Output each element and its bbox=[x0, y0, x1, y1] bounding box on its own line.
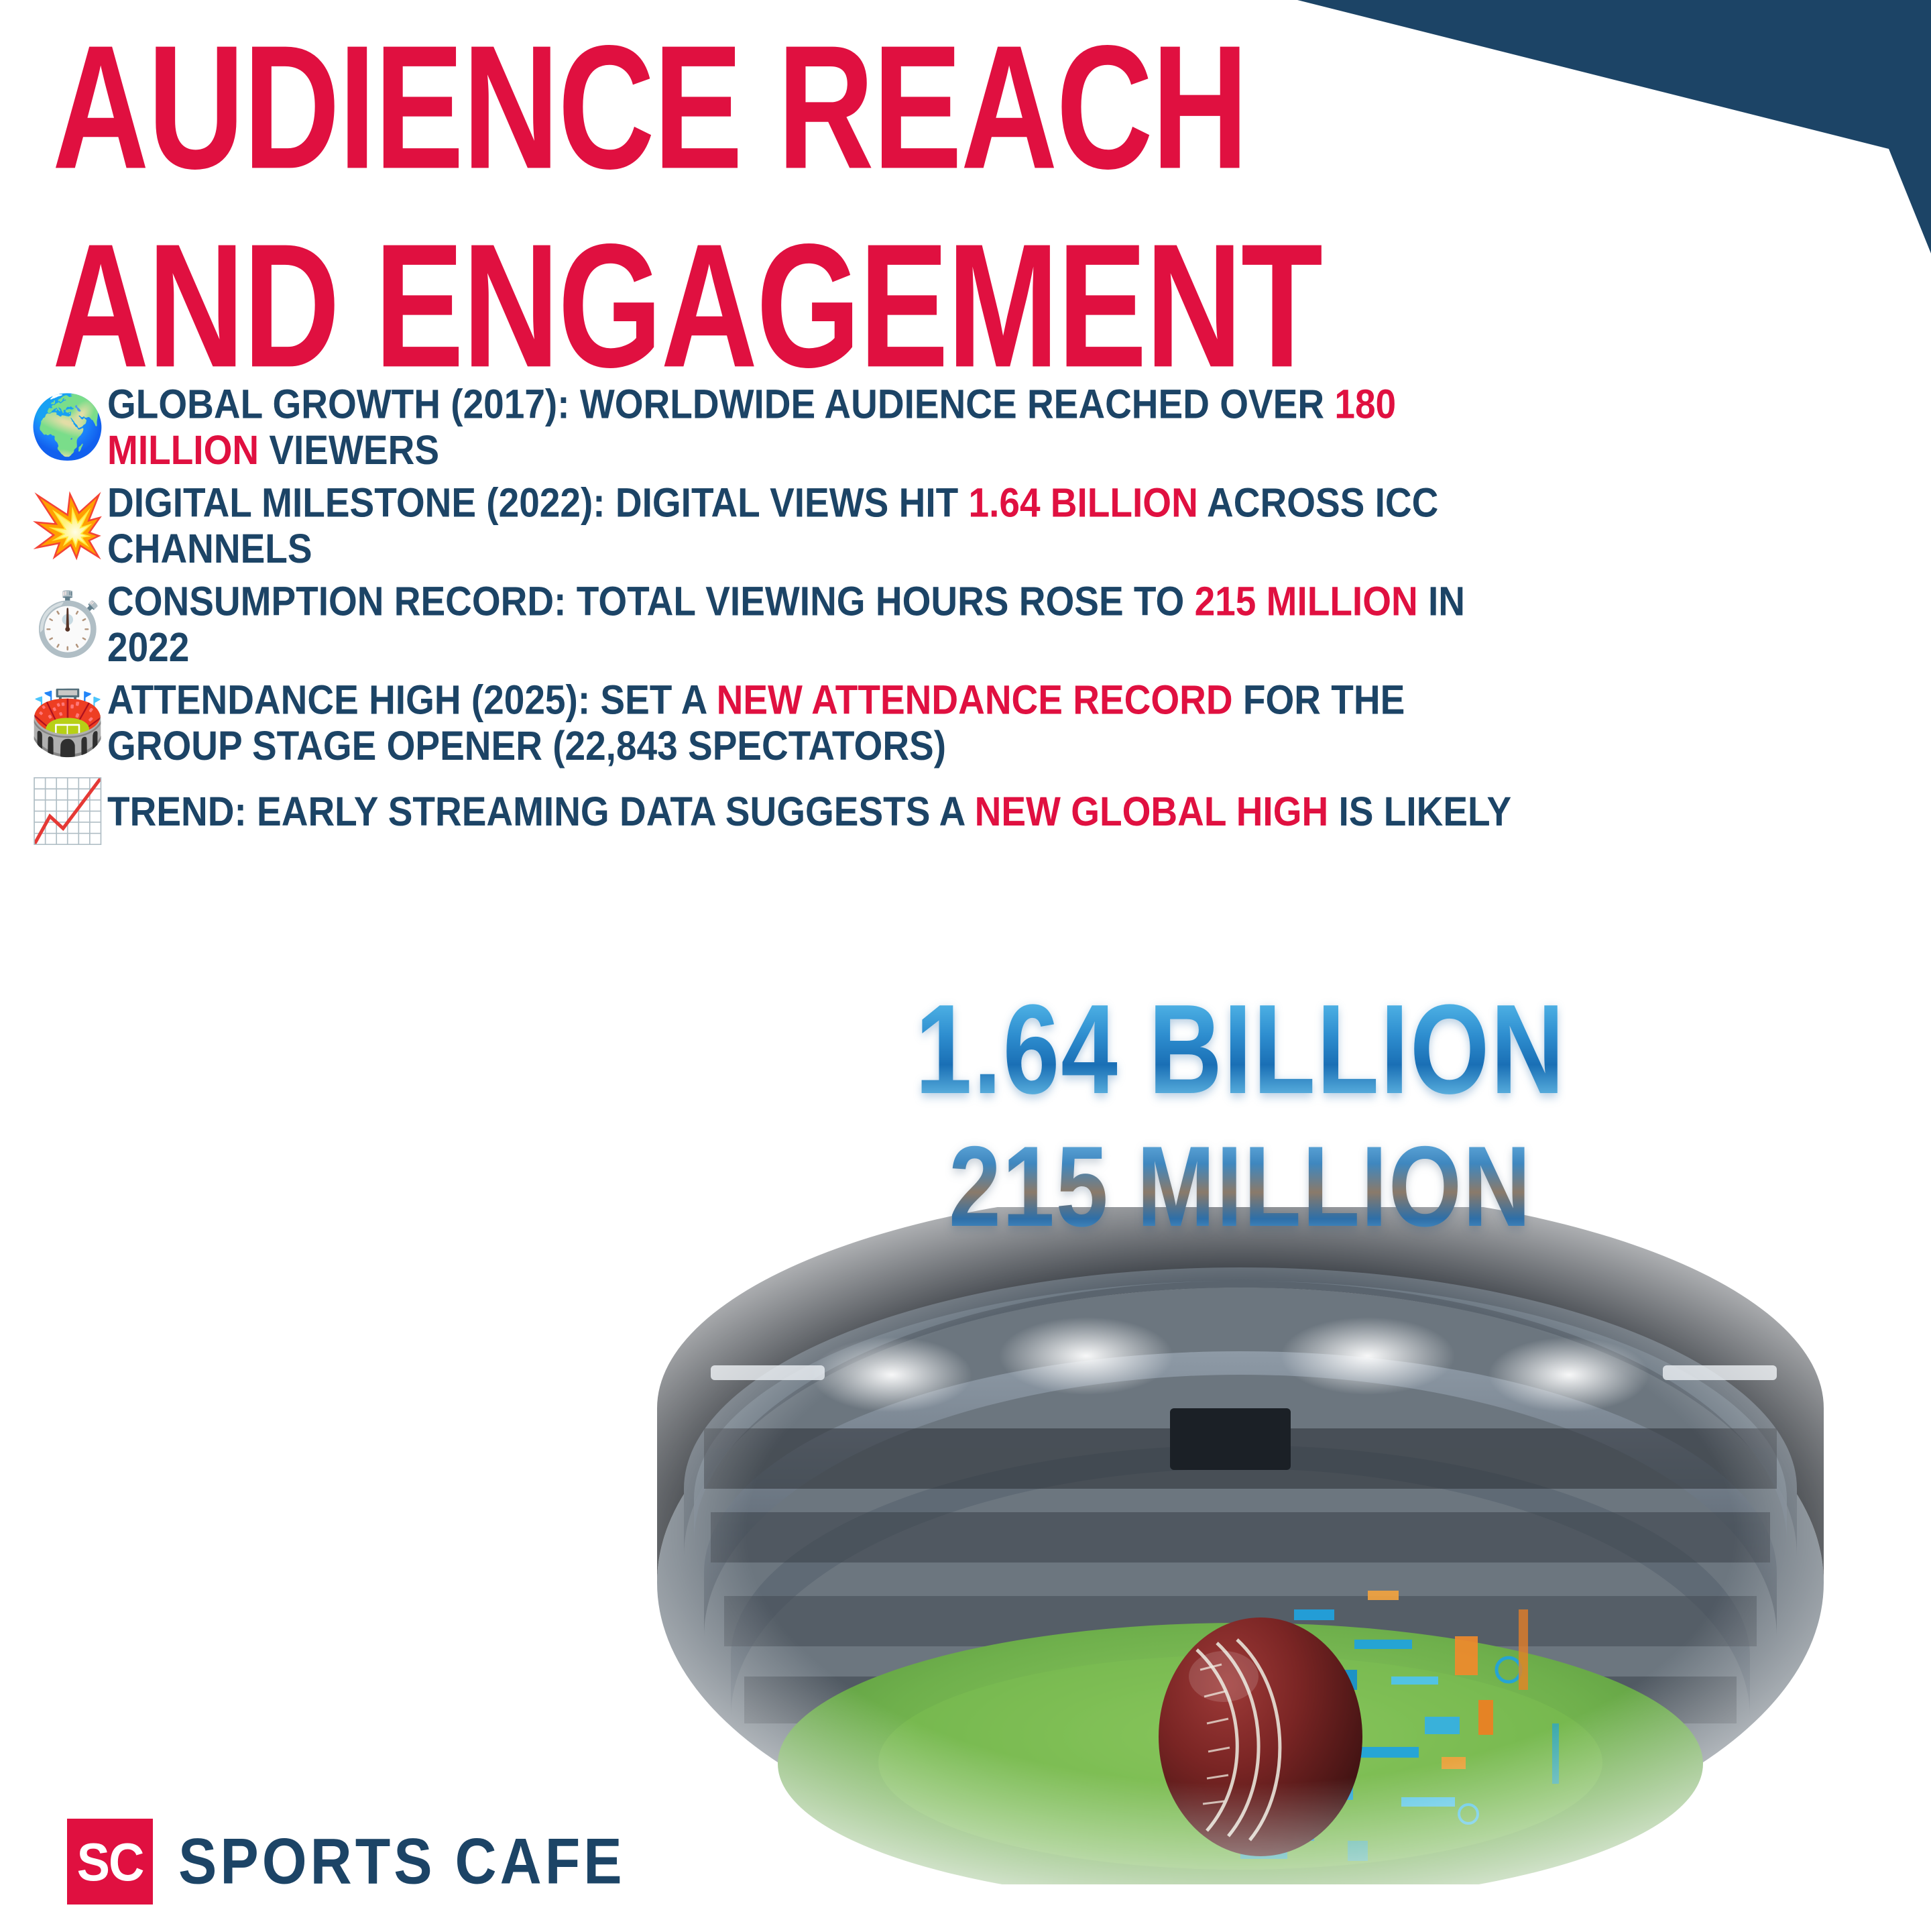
list-item: 📈 TREND: EARLY STREAMING DATA SUGGESTS A… bbox=[28, 781, 1537, 842]
hero-graphic: 1.64 BILLION 215 MILLION bbox=[577, 986, 1904, 1884]
text-run-label: GLOBAL GROWTH (2017): bbox=[107, 381, 570, 427]
text-run-hl: 1.64 BILLION bbox=[968, 479, 1197, 526]
stats-list: 🌍 GLOBAL GROWTH (2017): WORLDWIDE AUDIEN… bbox=[28, 386, 1537, 860]
text-run-label: TREND: bbox=[107, 788, 247, 834]
brand-logo: SC SPORTS CAFE bbox=[67, 1819, 626, 1905]
list-item: 🏟️ ATTENDANCE HIGH (2025): SET A NEW ATT… bbox=[28, 682, 1537, 763]
chart-increasing-icon: 📈 bbox=[28, 781, 107, 842]
text-run-body: SET A bbox=[590, 677, 716, 723]
globe-icon: 🌍 bbox=[28, 396, 107, 458]
page-title-line-1: AUDIENCE REACH bbox=[52, 27, 1488, 189]
text-run-body: WORLDWIDE AUDIENCE REACHED OVER bbox=[570, 381, 1335, 427]
hero-figure-primary: 1.64 BILLION bbox=[577, 986, 1904, 1113]
text-run-hl: NEW ATTENDANCE RECORD bbox=[717, 677, 1233, 723]
text-run-label: CONSUMPTION RECORD: bbox=[107, 578, 566, 624]
list-item-text: CONSUMPTION RECORD: TOTAL VIEWING HOURS … bbox=[107, 579, 1537, 670]
text-run-label: ATTENDANCE HIGH (2025): bbox=[107, 677, 590, 723]
hero-figure-secondary: 215 MILLION bbox=[577, 1129, 1904, 1244]
list-item-text: DIGITAL MILESTONE (2022): DIGITAL VIEWS … bbox=[107, 480, 1537, 571]
text-run-hl: 215 MILLION bbox=[1195, 578, 1418, 624]
list-item-text: TREND: EARLY STREAMING DATA SUGGESTS A N… bbox=[107, 789, 1537, 834]
text-run-body: IS LIKELY bbox=[1328, 788, 1511, 834]
text-run-body: TOTAL VIEWING HOURS ROSE TO bbox=[566, 578, 1194, 624]
stopwatch-icon: ⏱️ bbox=[28, 593, 107, 655]
list-item: 🌍 GLOBAL GROWTH (2017): WORLDWIDE AUDIEN… bbox=[28, 386, 1537, 467]
stadium-icon: 🏟️ bbox=[28, 692, 107, 754]
explosion-icon: 💥 bbox=[28, 495, 107, 557]
list-item: ⏱️ CONSUMPTION RECORD: TOTAL VIEWING HOU… bbox=[28, 583, 1537, 665]
infographic-canvas: AUDIENCE REACH AND ENGAGEMENT 🌍 GLOBAL G… bbox=[0, 0, 1931, 1932]
text-run-label: DIGITAL MILESTONE (2022): bbox=[107, 479, 605, 526]
page-title-line-2: AND ENGAGEMENT bbox=[52, 225, 1488, 388]
text-run-hl: NEW GLOBAL HIGH bbox=[975, 788, 1329, 834]
logo-wordmark: SPORTS CAFE bbox=[178, 1825, 626, 1899]
list-item-text: GLOBAL GROWTH (2017): WORLDWIDE AUDIENCE… bbox=[107, 382, 1537, 473]
hero-figure-group: 1.64 BILLION 215 MILLION bbox=[577, 986, 1904, 1223]
page-title: AUDIENCE REACH AND ENGAGEMENT bbox=[52, 27, 1460, 347]
stadium-illustration bbox=[577, 1207, 1904, 1884]
list-item-text: ATTENDANCE HIGH (2025): SET A NEW ATTEND… bbox=[107, 677, 1537, 769]
text-run-body: VIEWERS bbox=[259, 426, 439, 472]
logo-mark-text: SC bbox=[77, 1831, 143, 1892]
logo-mark: SC bbox=[67, 1819, 153, 1905]
text-run-body: EARLY STREAMING DATA SUGGESTS A bbox=[247, 788, 975, 834]
text-run-body: DIGITAL VIEWS HIT bbox=[605, 479, 969, 526]
list-item: 💥 DIGITAL MILESTONE (2022): DIGITAL VIEW… bbox=[28, 485, 1537, 566]
